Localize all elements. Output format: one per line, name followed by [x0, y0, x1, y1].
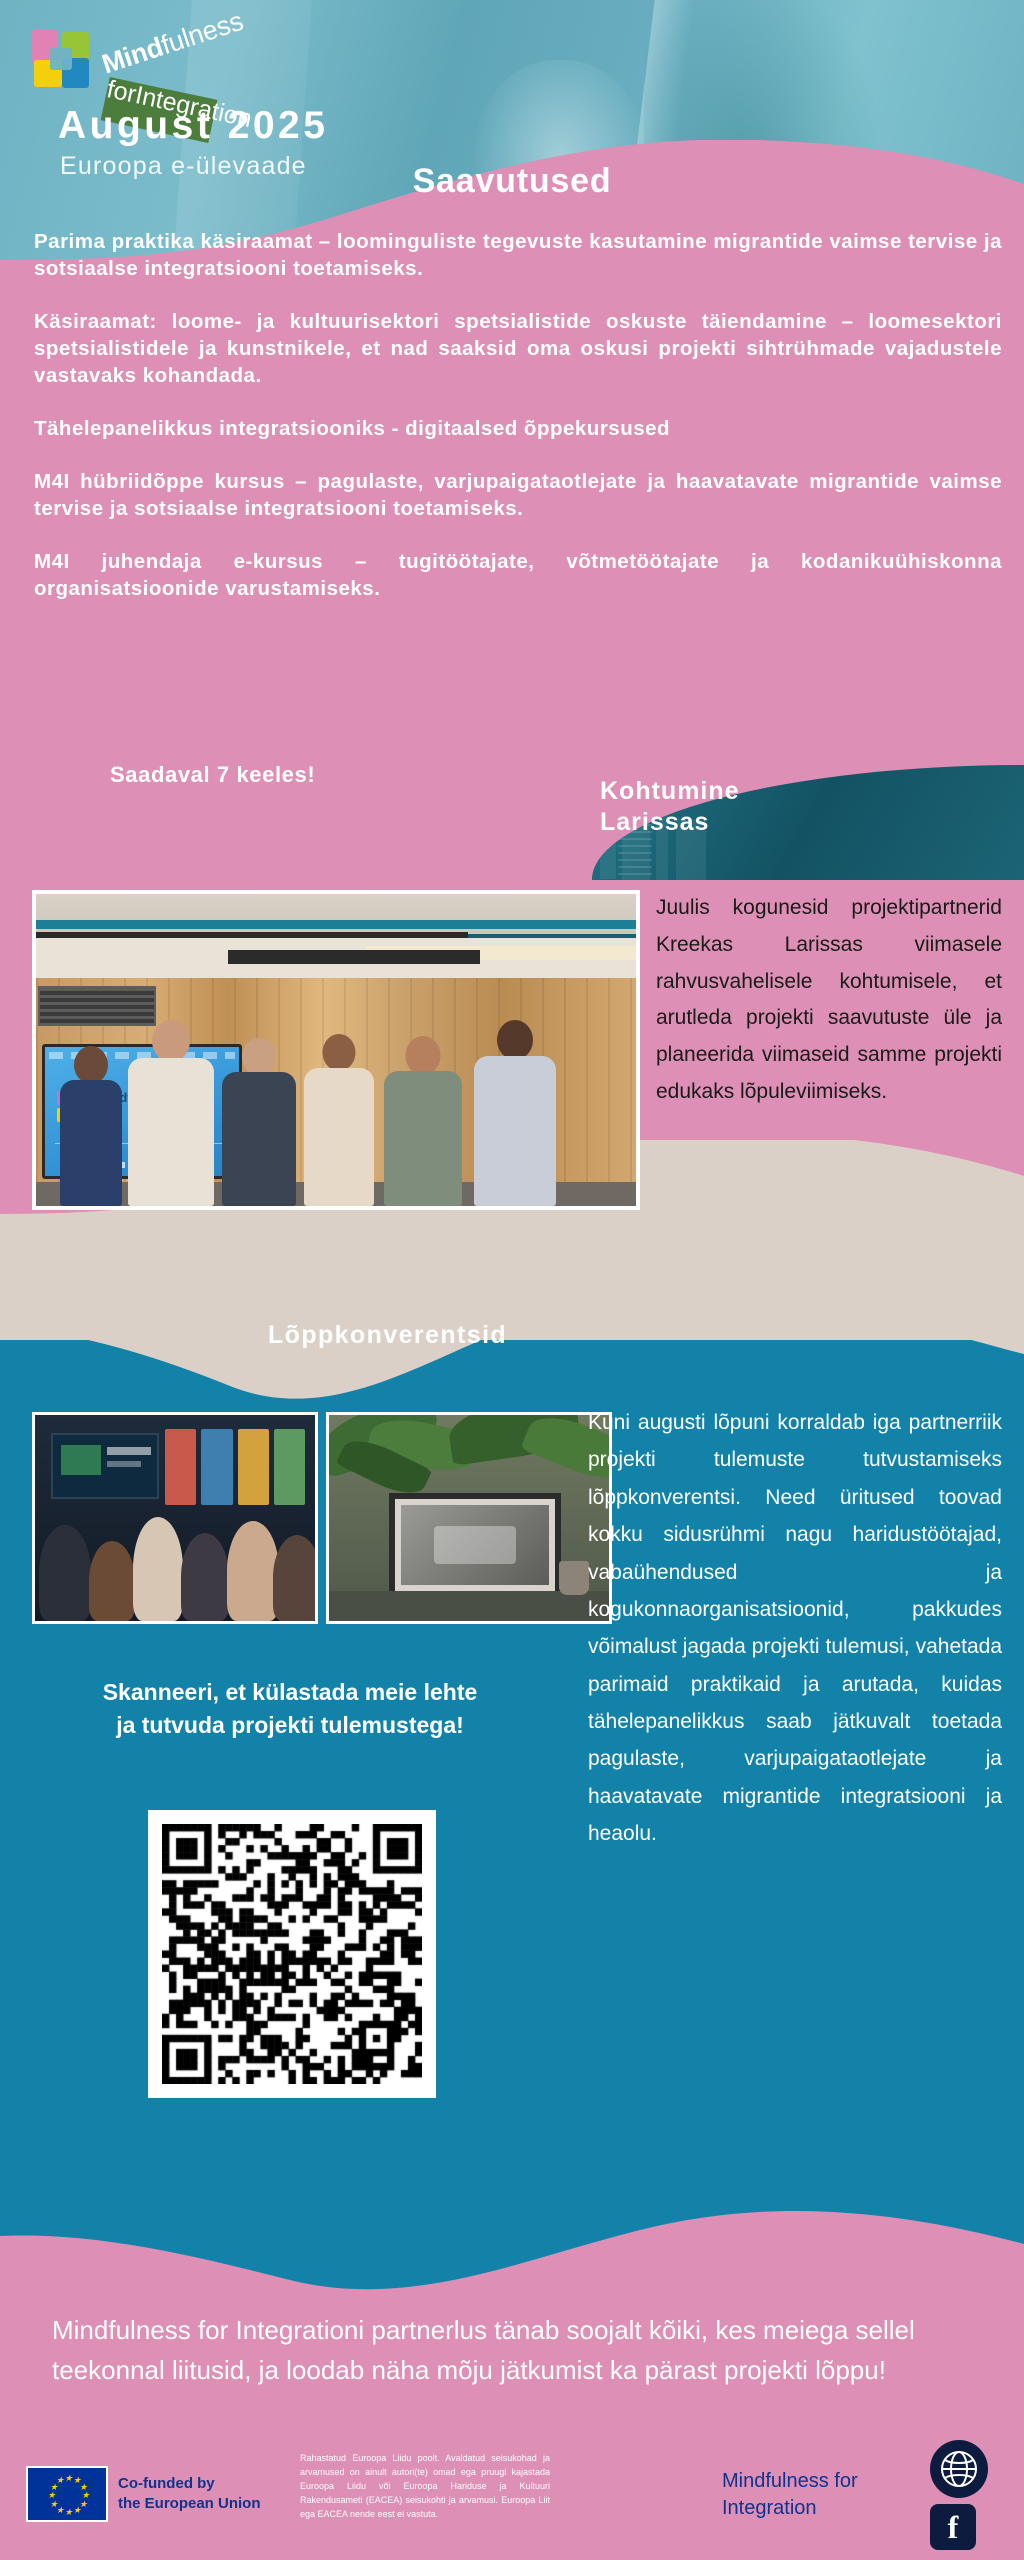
newsletter-page: Mindfulness forIntegration August 2025 E… [0, 0, 1024, 2560]
eu-flag-icon: ★★★★★★★★★★★★ [26, 2466, 108, 2522]
languages-available-note: Saadaval 7 keeles! [110, 762, 315, 788]
eu-disclaimer-text: Rahastatud Euroopa Liidu poolt. Avaldatu… [300, 2452, 550, 2522]
eu-label-line1: Co-funded by [118, 2474, 261, 2494]
qr-code[interactable] [148, 1810, 436, 2098]
thank-you-message: Mindfulness for Integrationi partnerlus … [52, 2310, 976, 2391]
issue-date: August 2025 [58, 104, 328, 148]
footer-brand-line1: Mindfulness for [722, 2468, 858, 2495]
conference-audience-photo [32, 1412, 318, 1624]
conferences-body-text: Kuni augusti lõpuni korraldab iga partne… [588, 1404, 1002, 1853]
logo-mark-icon [32, 30, 90, 88]
conferences-title: Lõppkonverentsid [268, 1321, 507, 1350]
larissa-section-title: Kohtumine Larissas [600, 776, 740, 838]
eu-funding-label: Co-funded by the European Union [118, 2474, 261, 2515]
footer-brand-name: Mindfulness for Integration [722, 2468, 858, 2522]
larissa-title-line1: Kohtumine [600, 776, 740, 807]
larissa-group-photo: Mindfulness [32, 890, 640, 1210]
eu-label-line2: the European Union [118, 2494, 261, 2514]
conference-exhibition-photo [326, 1412, 612, 1624]
scan-prompt-line2: ja tutvuda projekti tulemustega! [16, 1709, 564, 1742]
facebook-icon[interactable]: f [930, 2504, 976, 2550]
achievement-paragraph-5: M4I juhendaja e-kursus – tugitöötajate, … [34, 548, 1002, 602]
globe-icon[interactable] [930, 2440, 988, 2498]
achievement-paragraph-2: Käsiraamat: loome- ja kultuurisektori sp… [34, 308, 1002, 389]
partners-group [36, 1016, 636, 1206]
larissa-title-line2: Larissas [600, 807, 740, 838]
footer-brand-line2: Integration [722, 2495, 858, 2522]
larissa-body-text: Juulis kogunesid projektipartnerid Kreek… [656, 890, 1002, 1111]
logo-mind: Mind [98, 32, 166, 80]
achievement-paragraph-4: M4I hübriidõppe kursus – pagulaste, varj… [34, 468, 1002, 522]
achievement-paragraph-3: Tähelepanelikkus integratsiooniks - digi… [34, 415, 1002, 442]
achievements-title: Saavutused [0, 162, 1024, 201]
scan-prompt-line1: Skanneeri, et külastada meie lehte [16, 1676, 564, 1709]
achievement-paragraph-1: Parima praktika käsiraamat – loomingulis… [34, 228, 1002, 282]
scan-prompt: Skanneeri, et külastada meie lehte ja tu… [16, 1676, 564, 1743]
achievements-body: Parima praktika käsiraamat – loomingulis… [34, 228, 1002, 628]
